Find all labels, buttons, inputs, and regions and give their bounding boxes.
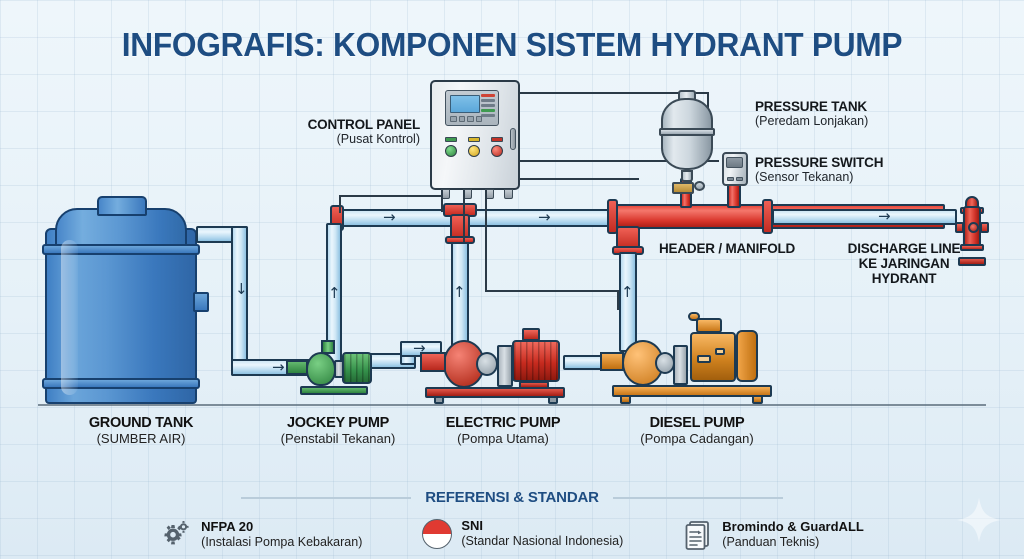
callout-discharge-line: DISCHARGE LINE KE JARINGAN HYDRANT [824, 241, 984, 286]
callout-control-panel: CONTROL PANEL (Pusat Kontrol) [270, 117, 420, 147]
reference-name-nfpa: NFPA 20 [201, 520, 362, 535]
pressure-tank-valve[interactable] [672, 182, 694, 194]
indicator-lamp-row [444, 137, 504, 157]
reference-name-bromindo: Bromindo & GuardALL [722, 520, 864, 535]
electric-motor [512, 340, 560, 382]
keypad-icon[interactable] [481, 94, 495, 122]
diesel-engine-detail-2 [715, 348, 725, 355]
ground-tank [45, 196, 197, 404]
diesel-suction-flange [600, 352, 624, 371]
caption-electric-pump: ELECTRIC PUMP (Pompa Utama) [413, 415, 593, 446]
diesel-coupling-guard [673, 345, 688, 385]
tank-highlight [61, 240, 78, 395]
pressure-tank [661, 88, 713, 180]
reference-list: NFPA 20 (Instalasi Pompa Kebakaran) SNI … [0, 519, 1024, 551]
reference-item-sni: SNI (Standar Nasional Indonesia) [422, 519, 623, 549]
alarm-lamp-group [490, 137, 504, 157]
warning-lamp-icon [468, 145, 480, 157]
callout-pressure-switch: PRESSURE SWITCH (Sensor Tekanan) [755, 155, 883, 185]
diesel-pump-bearing [655, 352, 675, 374]
control-wire-drop-3 [485, 190, 487, 290]
pressure-tank-neck [681, 170, 693, 182]
run-lamp-group [444, 137, 458, 157]
panel-door-handle[interactable] [510, 128, 516, 150]
pressure-tank-valve-handle[interactable] [694, 181, 705, 191]
warning-lamp-group [467, 137, 481, 157]
discharge-line-pipe [772, 209, 957, 225]
suction-pipe-vertical [231, 226, 248, 376]
jockey-discharge-flange [321, 340, 335, 354]
diesel-engine-head [696, 318, 722, 333]
pressure-tank-band [659, 128, 715, 136]
electric-motor-terminal-box [522, 328, 540, 341]
pressure-switch[interactable] [722, 152, 748, 186]
electric-pump-bearing [476, 352, 498, 376]
callout-pressure-tank: PRESSURE TANK (Peredam Lonjakan) [755, 99, 868, 129]
jockey-suction-flange [286, 360, 308, 375]
control-panel[interactable] [430, 80, 520, 190]
electric-pump-foot-right [548, 396, 558, 404]
softkey-row[interactable] [450, 116, 482, 122]
control-wire-diesel-drop [617, 290, 619, 310]
electric-pump-coupling-guard [497, 345, 513, 387]
footer-heading-row: REFERENSI & STANDAR [0, 489, 1024, 506]
caption-jockey-pump: JOCKEY PUMP (Penstabil Tekanan) [243, 415, 433, 446]
pressure-switch-button-right[interactable] [736, 177, 743, 181]
flow-arrow-right-suction: → [272, 360, 285, 375]
reference-subtitle-sni: (Standar Nasional Indonesia) [461, 534, 623, 549]
diesel-exhaust-elbow [688, 312, 700, 321]
caption-ground-tank: GROUND TANK (SUMBER AIR) [46, 415, 236, 446]
reference-subtitle-nfpa: (Instalasi Pompa Kebakaran) [201, 535, 362, 550]
page-title: INFOGRAFIS: KOMPONEN SISTEM HYDRANT PUMP [20, 26, 1003, 64]
hydrant-outlet-left [955, 222, 964, 233]
flow-arrow-right-upper-2: → [538, 210, 551, 225]
control-wire-aux [519, 178, 639, 180]
footer-rule-left [241, 497, 411, 499]
pressure-switch-display [726, 157, 743, 168]
alarm-lamp-icon [491, 145, 503, 157]
pressure-switch-button-left[interactable] [727, 177, 734, 181]
lcd-screen [450, 95, 480, 113]
jockey-pump-baseplate [300, 386, 368, 395]
tank-cap [97, 196, 147, 216]
jockey-motor [342, 352, 372, 384]
flow-arrow-up-jockey: ↑ [328, 286, 341, 301]
diesel-pump-foot-left [620, 395, 631, 404]
control-wire-drop-1 [441, 190, 443, 212]
footer-heading: REFERENSI & STANDAR [425, 489, 598, 506]
ground-line [38, 404, 986, 406]
document-icon [683, 519, 713, 551]
diesel-engine-detail-1 [697, 355, 711, 363]
control-wire-diesel-run [485, 290, 617, 292]
tank-outlet-nozzle [193, 292, 209, 312]
hydrant-face-nut [968, 222, 979, 233]
control-wire-jockey [339, 195, 441, 213]
electric-motor-foot [519, 381, 549, 389]
flow-arrow-down-suction: ↓ [235, 282, 248, 297]
callout-header-manifold: HEADER / MANIFOLD [659, 241, 795, 256]
run-lamp-icon [445, 145, 457, 157]
jockey-pump-casing [306, 352, 336, 386]
reference-item-nfpa: NFPA 20 (Instalasi Pompa Kebakaran) [160, 519, 362, 551]
cable-gland-4 [504, 189, 513, 199]
diesel-pump-baseplate [612, 385, 772, 397]
gears-icon [160, 519, 192, 551]
footer-rule-right [613, 497, 783, 499]
control-panel-display-module [445, 90, 499, 126]
electric-suction-flange [420, 352, 446, 372]
reference-subtitle-bromindo: (Panduan Teknis) [722, 535, 864, 550]
flow-arrow-up-diesel: ↑ [621, 285, 634, 300]
hydrant-outlet-right [980, 222, 989, 233]
flag-icon [422, 519, 452, 549]
caption-diesel-pump: DIESEL PUMP (Pompa Cadangan) [604, 415, 790, 446]
flow-arrow-right-discharge: → [878, 209, 891, 224]
diesel-pump-foot-right [752, 395, 763, 404]
control-wire-drop-2 [463, 190, 465, 242]
reference-item-bromindo: Bromindo & GuardALL (Panduan Teknis) [683, 519, 864, 551]
electric-pump-foot-left [434, 396, 444, 404]
diesel-radiator [736, 330, 758, 382]
flow-arrow-up-electric: ↑ [453, 285, 466, 300]
infographic-canvas: INFOGRAFIS: KOMPONEN SISTEM HYDRANT PUMP… [0, 0, 1024, 559]
footer: REFERENSI & STANDAR NFPA 20 (Instalasi P… [0, 489, 1024, 551]
reference-name-sni: SNI [461, 519, 623, 534]
riser-diesel [619, 252, 637, 352]
